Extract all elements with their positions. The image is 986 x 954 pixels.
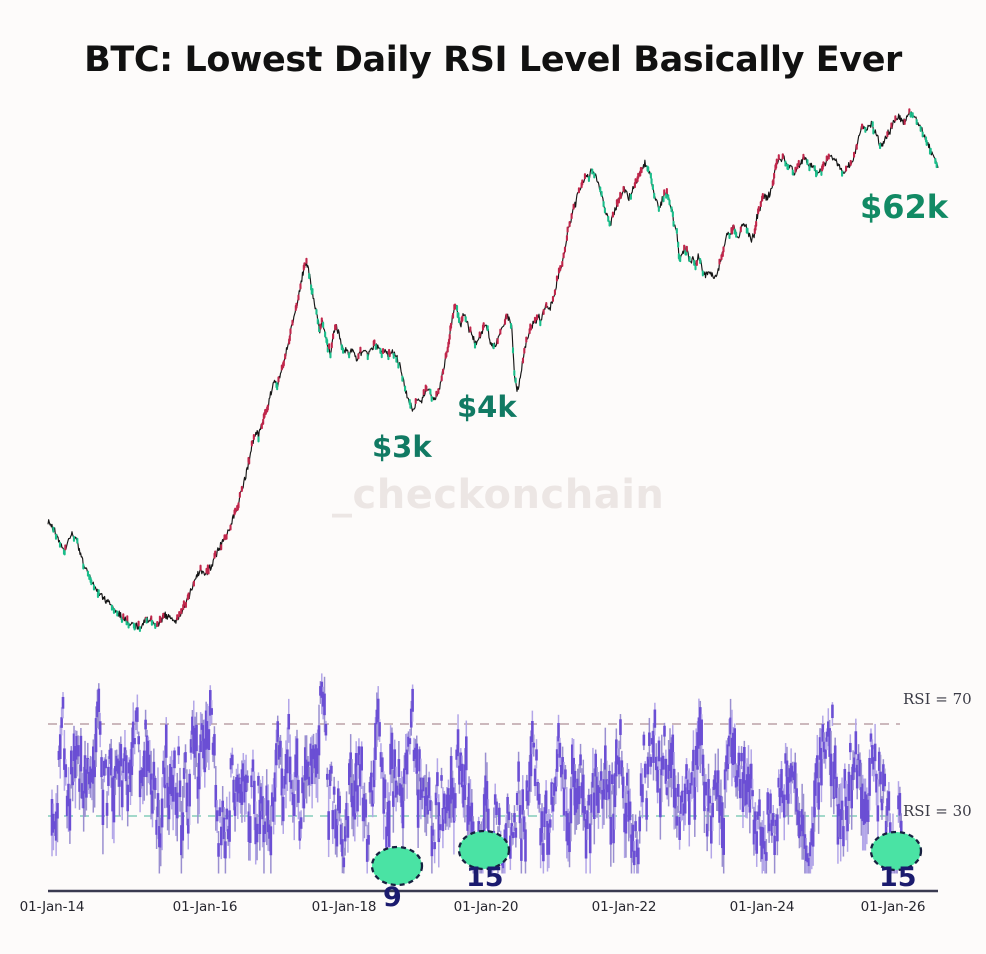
rsi-low-value-1: 9 [383, 882, 402, 913]
x-tick-01-jan-20: 01-Jan-20 [454, 899, 519, 915]
price-annotation-3k: $3k [372, 430, 432, 464]
price-momentum-ticks [53, 109, 936, 631]
x-tick-01-jan-18: 01-Jan-18 [312, 899, 377, 915]
x-tick-01-jan-24: 01-Jan-24 [730, 899, 795, 915]
chart-root: BTC: Lowest Daily RSI Level Basically Ev… [0, 0, 986, 954]
rsi-low-value-2: 15 [466, 862, 504, 893]
x-tick-01-jan-16: 01-Jan-16 [173, 899, 238, 915]
price-annotation-4k: $4k [457, 390, 517, 424]
price-annotation-62k: $62k [860, 188, 948, 226]
x-tick-01-jan-22: 01-Jan-22 [592, 899, 657, 915]
price-series-group [48, 109, 938, 631]
chart-plot-surface [0, 0, 986, 954]
x-tick-01-jan-26: 01-Jan-26 [861, 899, 926, 915]
price-line [48, 111, 938, 629]
x-tick-01-jan-14: 01-Jan-14 [20, 899, 85, 915]
rsi-70-label: RSI = 70 [903, 690, 972, 708]
rsi-low-value-3: 15 [879, 862, 917, 893]
rsi-30-label: RSI = 30 [903, 802, 972, 820]
rsi-low-marker-1[interactable] [372, 847, 422, 885]
